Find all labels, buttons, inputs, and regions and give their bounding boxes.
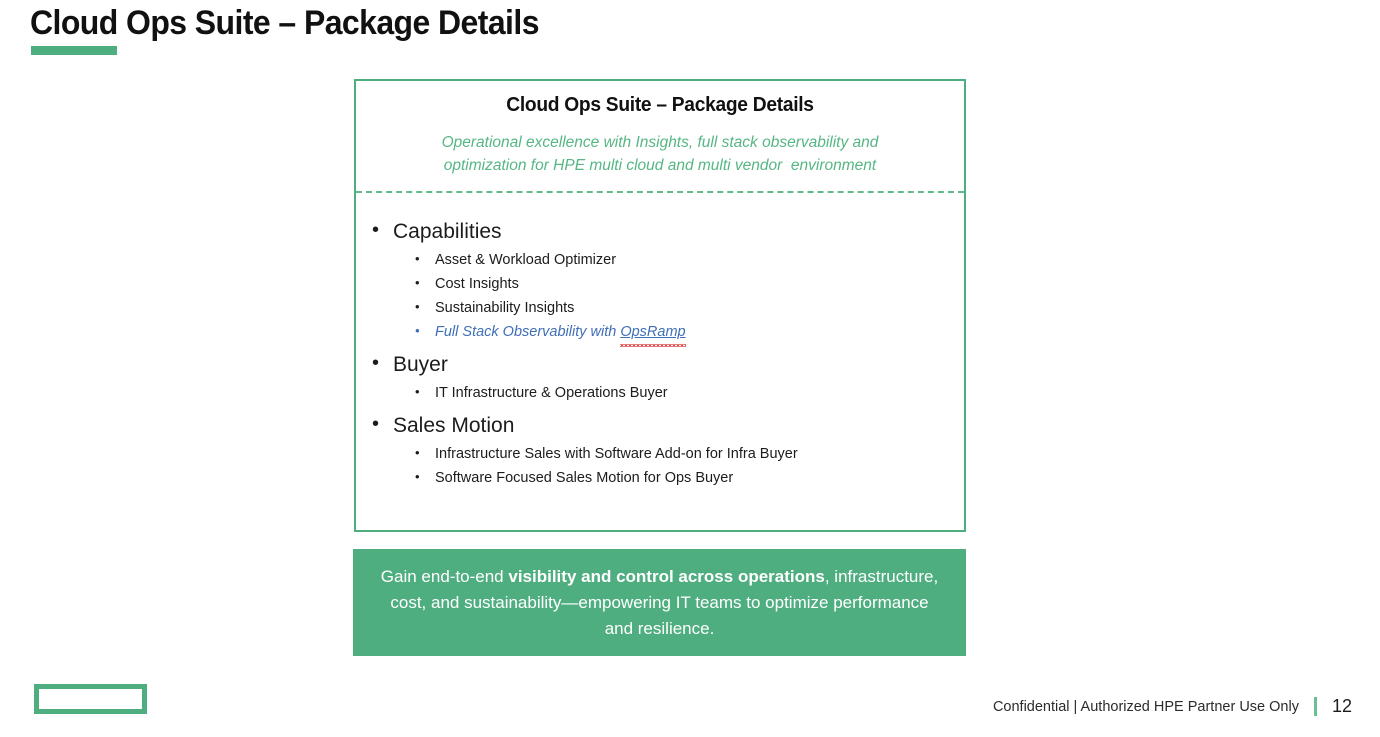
card-subtitle: Operational excellence with Insights, fu…: [356, 131, 964, 177]
callout-bold-phrase: visibility and control across operations: [508, 567, 824, 586]
card-title: Cloud Ops Suite – Package Details: [368, 94, 952, 117]
list-item: Capabilities Asset & Workload Optimizer …: [372, 219, 964, 344]
sublist: Infrastructure Sales with Software Add-o…: [393, 442, 964, 490]
package-details-card: Cloud Ops Suite – Package Details Operat…: [354, 79, 966, 532]
list-item: Sustainability Insights: [393, 296, 964, 320]
callout-text: Gain end-to-end visibility and control a…: [377, 564, 942, 642]
hpe-logo: [34, 684, 147, 714]
list-item: Buyer IT Infrastructure & Operations Buy…: [372, 352, 964, 405]
section-heading: Capabilities: [393, 220, 502, 243]
list-item: Software Focused Sales Motion for Ops Bu…: [393, 466, 964, 490]
confidentiality-notice: Confidential | Authorized HPE Partner Us…: [993, 699, 1299, 715]
list-item: Asset & Workload Optimizer: [393, 248, 964, 272]
opsramp-link-text[interactable]: OpsRamp: [620, 320, 685, 344]
section-heading: Buyer: [393, 353, 448, 376]
sublist: Asset & Workload Optimizer Cost Insights…: [393, 248, 964, 344]
summary-callout: Gain end-to-end visibility and control a…: [353, 549, 966, 656]
sublist: IT Infrastructure & Operations Buyer: [393, 381, 964, 405]
list-item: Sales Motion Infrastructure Sales with S…: [372, 413, 964, 490]
list-item-opsramp-link[interactable]: Full Stack Observability with OpsRamp: [393, 320, 964, 344]
list-item: Infrastructure Sales with Software Add-o…: [393, 442, 964, 466]
card-divider: [356, 191, 964, 193]
page-title: Cloud Ops Suite – Package Details: [30, 4, 539, 43]
footer-separator: [1314, 697, 1317, 716]
footer: Confidential | Authorized HPE Partner Us…: [993, 696, 1352, 717]
page-number: 12: [1332, 696, 1352, 717]
callout-lead: Gain end-to-end: [381, 567, 509, 586]
capability-list: Capabilities Asset & Workload Optimizer …: [356, 219, 964, 490]
list-item: Cost Insights: [393, 272, 964, 296]
link-prefix-text: Full Stack Observability with: [435, 324, 620, 340]
title-accent-bar: [31, 46, 117, 55]
section-heading: Sales Motion: [393, 414, 514, 437]
list-item: IT Infrastructure & Operations Buyer: [393, 381, 964, 405]
